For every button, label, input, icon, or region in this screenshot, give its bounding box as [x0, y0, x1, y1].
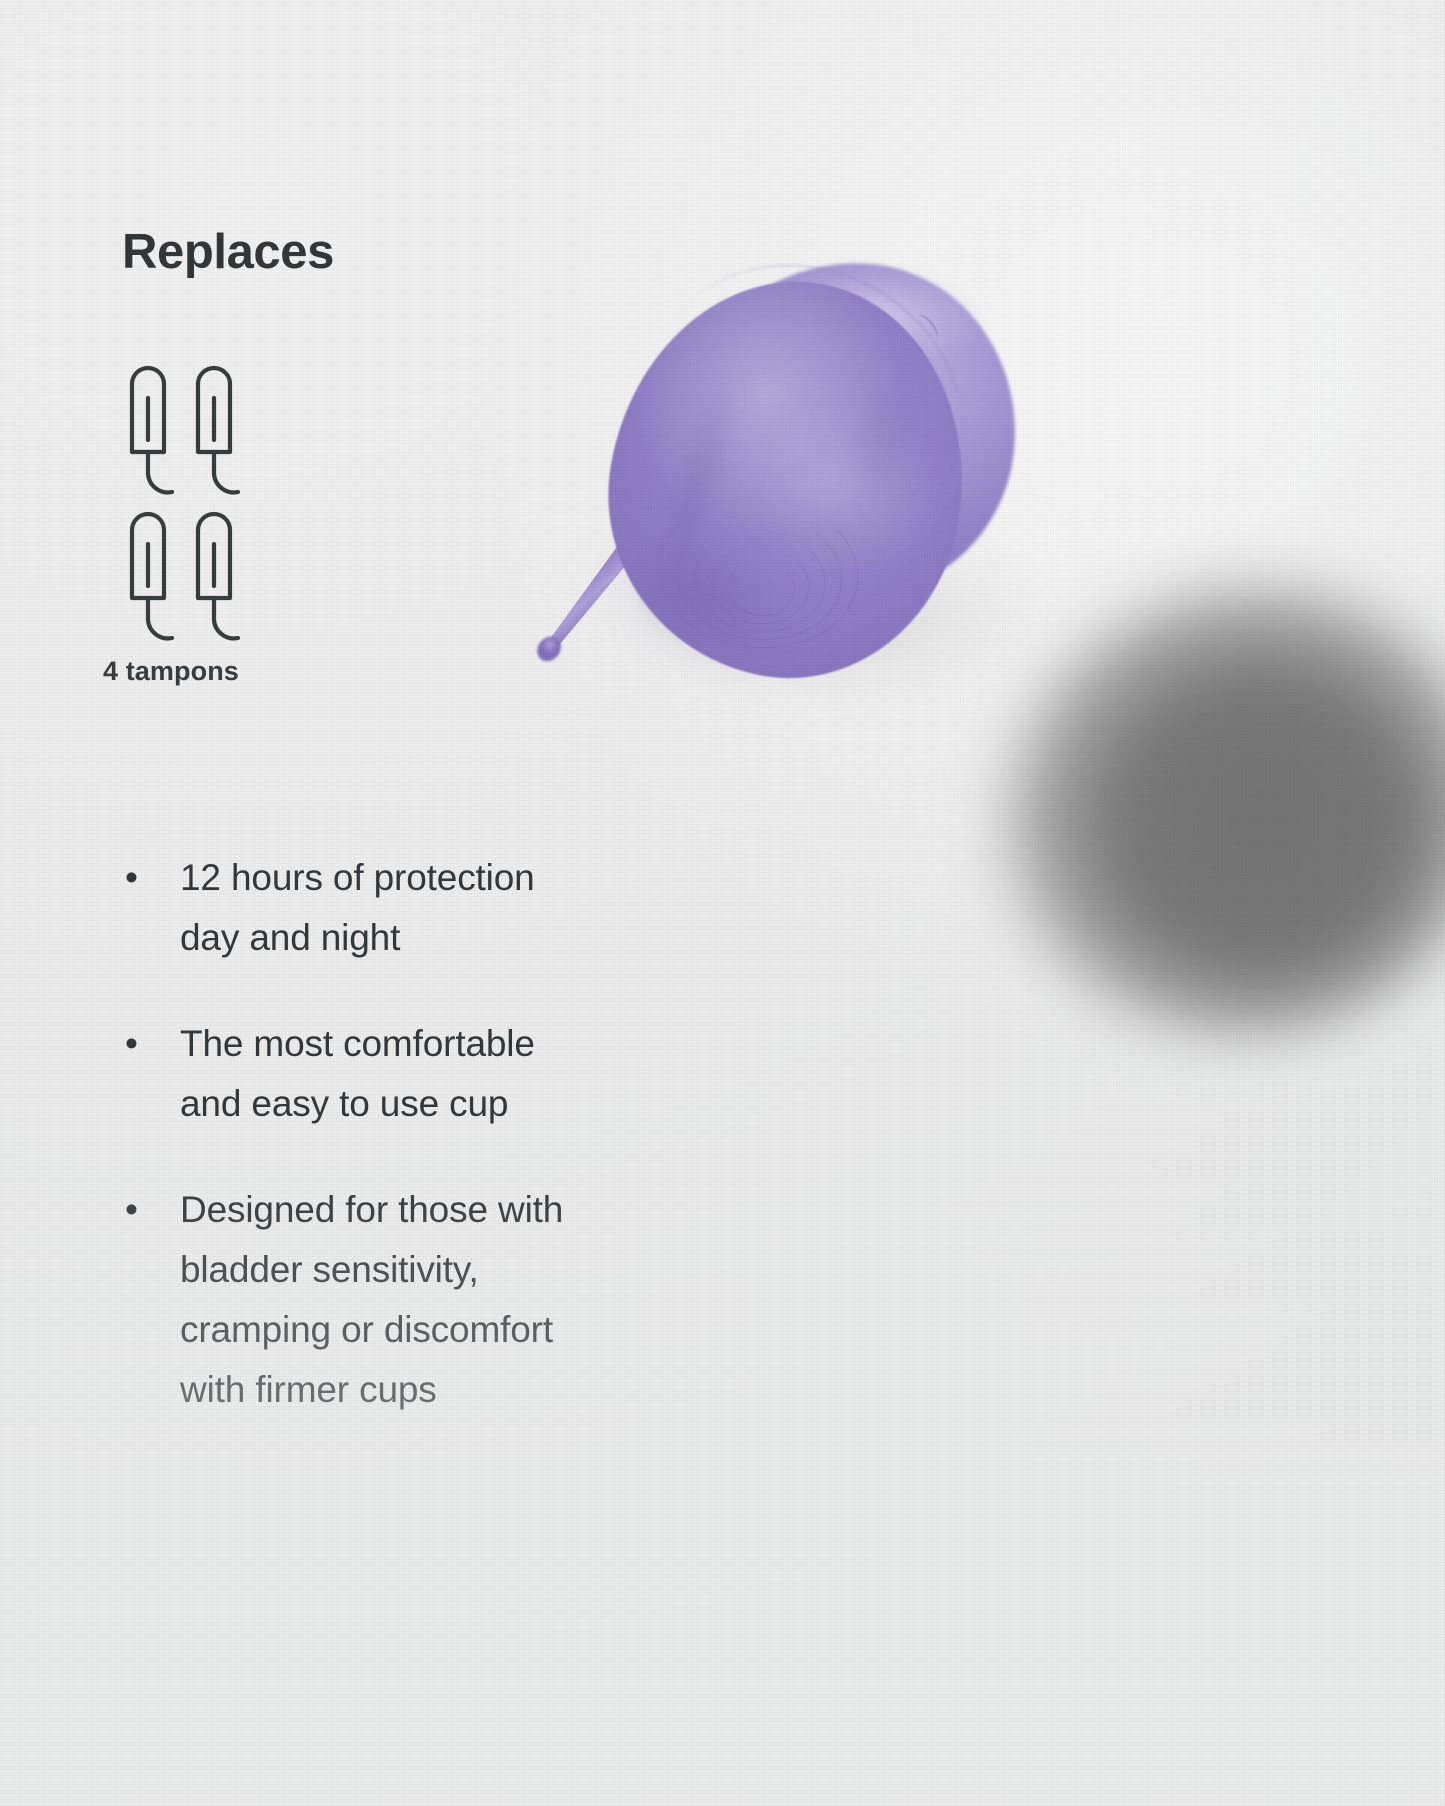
tampon-icon: [192, 502, 246, 654]
tampon-icon: [192, 356, 246, 508]
tampon-icon: [126, 356, 180, 508]
cup-grip-rings: [621, 479, 896, 681]
replaces-icon-grid: [126, 356, 296, 706]
list-item: • 12 hours of protection day and night: [122, 848, 762, 968]
replaces-caption: 4 tampons: [103, 656, 239, 687]
bullet-marker: •: [122, 848, 180, 968]
list-item: • The most comfortable and easy to use c…: [122, 1014, 762, 1134]
bullet-marker: •: [122, 1014, 180, 1134]
tampon-icon: [126, 502, 180, 654]
list-item-label: The most comfortable and easy to use cup: [180, 1014, 762, 1134]
list-item-label: 12 hours of protection day and night: [180, 848, 762, 968]
page-title: Replaces: [122, 224, 334, 280]
background-bottom-tint: [0, 1166, 1445, 1806]
